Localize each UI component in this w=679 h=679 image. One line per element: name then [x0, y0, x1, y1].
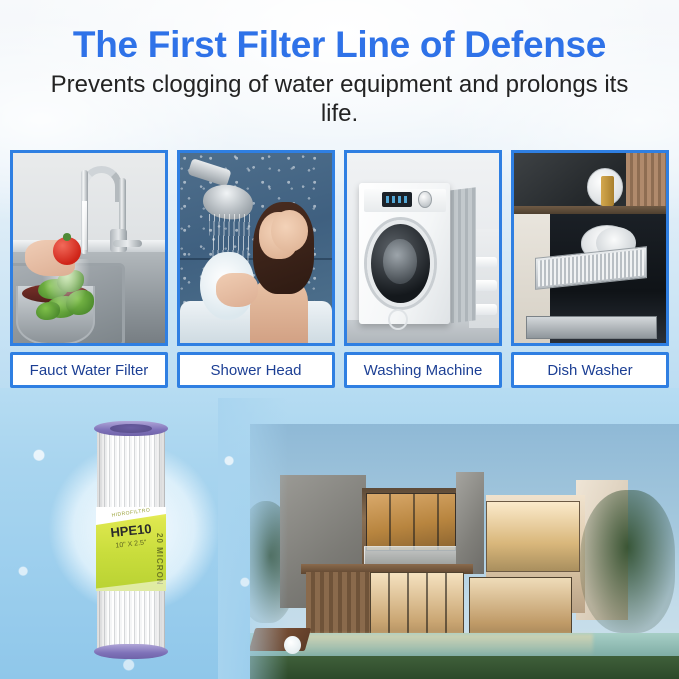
filter-end-cap-bottom — [94, 644, 168, 659]
feature-tile-row — [10, 150, 669, 346]
tile-shower-head — [177, 150, 335, 346]
tile-washing-machine — [344, 150, 502, 346]
shower-scene-image — [180, 153, 332, 343]
tile-dish-washer — [511, 150, 669, 346]
modern-house-scene-image — [250, 424, 679, 679]
filter-brand-text: HIDROFILTRO — [96, 507, 166, 521]
tile-faucet-water-filter — [10, 150, 168, 346]
caption-shower-head: Shower Head — [177, 352, 335, 388]
washing-machine-scene-image — [347, 153, 499, 343]
product-poster: The First Filter Line of Defense Prevent… — [0, 0, 679, 679]
page-title: The First Filter Line of Defense — [0, 24, 679, 65]
faucet-scene-image — [13, 153, 165, 343]
filter-splash-group: HIDROFILTRO HPE10 10" X 2.5" 20 MICRON — [0, 398, 270, 679]
caption-washing-machine: Washing Machine — [344, 352, 502, 388]
dishwasher-scene-image — [514, 153, 666, 343]
page-subtitle: Prevents clogging of water equipment and… — [0, 71, 679, 128]
filter-end-cap-top — [94, 421, 168, 436]
filter-micron-text: 20 MICRON — [155, 533, 164, 586]
caption-faucet-water-filter: Fauct Water Filter — [10, 352, 168, 388]
pleated-filter-cartridge: HIDROFILTRO HPE10 10" X 2.5" 20 MICRON — [97, 421, 165, 659]
filter-label: HIDROFILTRO HPE10 10" X 2.5" 20 MICRON — [96, 507, 166, 591]
heading-block: The First Filter Line of Defense Prevent… — [0, 0, 679, 128]
caption-dish-washer: Dish Washer — [511, 352, 669, 388]
tile-caption-row: Fauct Water Filter Shower Head Washing M… — [10, 352, 669, 388]
